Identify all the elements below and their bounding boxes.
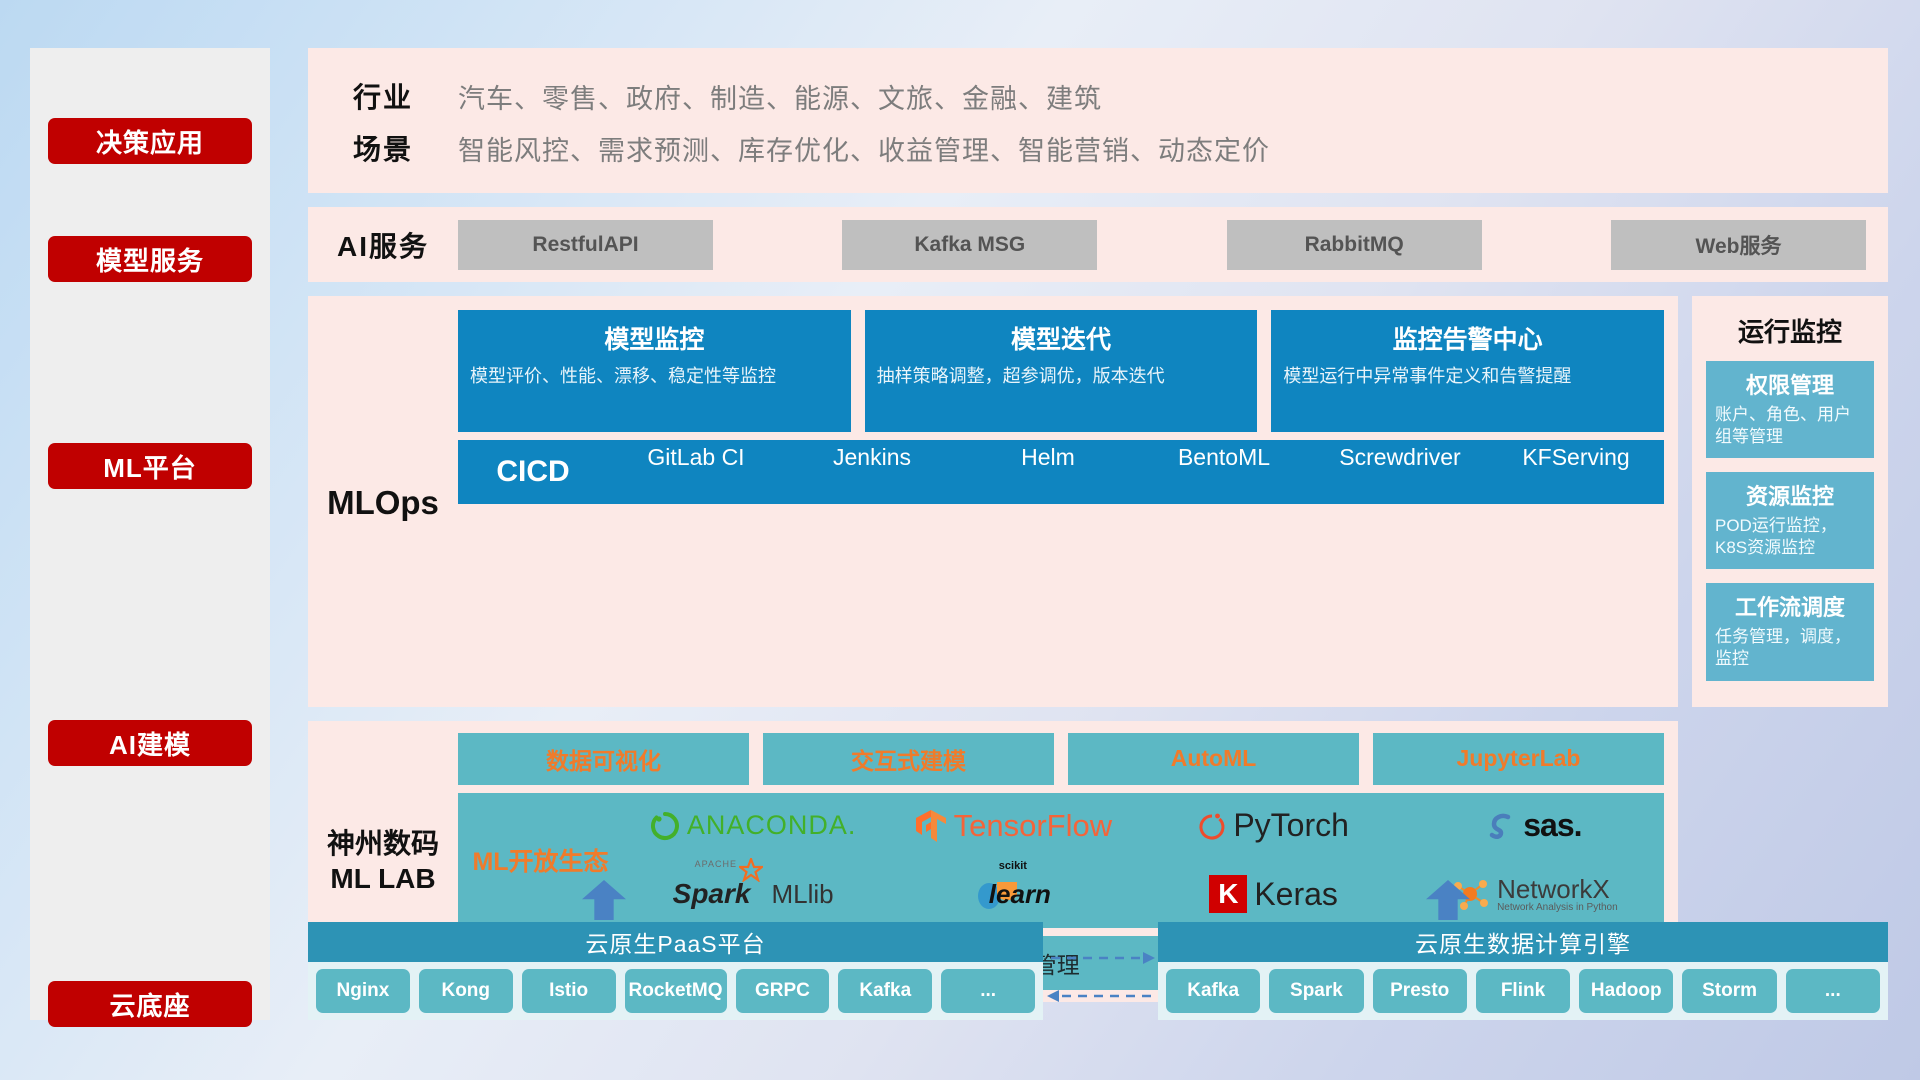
sidebar-item-label: 云底座: [109, 986, 190, 1023]
monitor-title: 运行监控: [1706, 312, 1874, 349]
main-stack: 行业 汽车、零售、政府、制造、能源、文旅、金融、建筑 场景 智能风控、需求预测、…: [308, 48, 1888, 1002]
scenario-value: 智能风控、需求预测、库存优化、收益管理、智能营销、动态定价: [458, 129, 1270, 168]
cicd-item-helm[interactable]: Helm: [960, 444, 1136, 500]
architecture-diagram: 决策应用 模型服务 ML平台 AI建模 云底座 行业 汽车、零售、政府、制造、能…: [0, 0, 1920, 1080]
service-kafka-msg[interactable]: Kafka MSG: [842, 220, 1097, 270]
cicd-item-bentoml[interactable]: BentoML: [1136, 444, 1312, 500]
chip-more-right[interactable]: ...: [1786, 969, 1880, 1013]
service-restful-api[interactable]: RestfulAPI: [458, 220, 713, 270]
card-desc: 抽样策略调整，超参调优，版本迭代: [877, 364, 1246, 388]
sidebar-item-decision-app[interactable]: 决策应用: [48, 118, 252, 164]
chip-storm[interactable]: Storm: [1682, 969, 1776, 1013]
tab-automl[interactable]: AutoML: [1068, 733, 1359, 785]
monitor-card-workflow[interactable]: 工作流调度 任务管理，调度，监控: [1706, 583, 1874, 680]
cicd-bar: CICD GitLab CI Jenkins Helm BentoML Scre…: [458, 440, 1664, 504]
ai-service-items: RestfulAPI Kafka MSG RabbitMQ Web服务: [458, 220, 1888, 270]
service-web[interactable]: Web服务: [1611, 220, 1866, 270]
logo-row-1: ANACONDA. TensorFlow: [623, 793, 1664, 860]
tab-data-visualization[interactable]: 数据可视化: [458, 733, 749, 785]
mlops-card-model-monitor[interactable]: 模型监控 模型评价、性能、漂移、稳定性等监控: [458, 310, 851, 432]
layer-rail: 决策应用 模型服务 ML平台 AI建模 云底座: [30, 48, 270, 1020]
logo-text: PyTorch: [1233, 807, 1349, 844]
card-desc: 模型评价、性能、漂移、稳定性等监控: [470, 364, 839, 388]
sidebar-item-label: 模型服务: [96, 241, 204, 278]
industry-scenario-band: 行业 汽车、零售、政府、制造、能源、文旅、金融、建筑 场景 智能风控、需求预测、…: [308, 48, 1888, 193]
modeling-label-line1: 神州数码: [327, 826, 439, 861]
anaconda-icon: [650, 811, 680, 841]
card-title: 工作流调度: [1715, 590, 1865, 622]
modeling-tabs: 数据可视化 交互式建模 AutoML JupyterLab: [458, 733, 1664, 785]
cicd-item-gitlab-ci[interactable]: GitLab CI: [608, 444, 784, 500]
chip-more-left[interactable]: ...: [941, 969, 1035, 1013]
data-engine-box: 云原生数据计算引擎 Kafka Spark Presto Flink Hadoo…: [1158, 922, 1888, 1020]
chip-flink[interactable]: Flink: [1476, 969, 1570, 1013]
sidebar-item-label: ML平台: [103, 448, 197, 485]
mlops-card-model-iteration[interactable]: 模型迭代 抽样策略调整，超参调优，版本迭代: [865, 310, 1258, 432]
card-desc: POD运行监控，K8S资源监控: [1715, 515, 1865, 559]
cicd-label: CICD: [458, 455, 608, 489]
sidebar-item-ai-modeling[interactable]: AI建模: [48, 720, 252, 766]
cicd-item-screwdriver[interactable]: Screwdriver: [1312, 444, 1488, 500]
card-desc: 模型运行中异常事件定义和告警提醒: [1283, 364, 1652, 388]
industry-label: 行业: [308, 76, 458, 116]
card-desc: 任务管理，调度，监控: [1715, 626, 1865, 670]
apache-text: APACHE: [695, 859, 737, 869]
tab-jupyterlab[interactable]: JupyterLab: [1373, 733, 1664, 785]
logo-tensorflow: TensorFlow: [883, 808, 1143, 844]
scenario-label: 场景: [308, 128, 458, 168]
logo-text: ANACONDA.: [687, 810, 857, 841]
paas-title: 云原生PaaS平台: [308, 922, 1043, 962]
chip-kafka-right[interactable]: Kafka: [1166, 969, 1260, 1013]
monitor-card-permission[interactable]: 权限管理 账户、角色、用户组等管理: [1706, 361, 1874, 458]
card-title: 模型迭代: [877, 320, 1246, 356]
spark-star-icon: [739, 858, 763, 882]
sidebar-item-label: 决策应用: [96, 123, 204, 160]
runtime-monitor-panel: 运行监控 权限管理 账户、角色、用户组等管理 资源监控 POD运行监控，K8S资…: [1692, 296, 1888, 707]
logo-text: sas.: [1523, 807, 1581, 844]
chip-spark[interactable]: Spark: [1269, 969, 1363, 1013]
chip-kafka[interactable]: Kafka: [838, 969, 932, 1013]
cloud-base-row: 云原生PaaS平台 Nginx Kong Istio RocketMQ GRPC…: [308, 880, 1888, 1030]
industry-value: 汽车、零售、政府、制造、能源、文旅、金融、建筑: [458, 77, 1102, 116]
sidebar-item-label: AI建模: [109, 725, 191, 762]
sidebar-item-model-service[interactable]: 模型服务: [48, 236, 252, 282]
chip-grpc[interactable]: GRPC: [736, 969, 830, 1013]
sidebar-item-ml-platform[interactable]: ML平台: [48, 443, 252, 489]
card-title: 监控告警中心: [1283, 320, 1652, 356]
chip-istio[interactable]: Istio: [522, 969, 616, 1013]
chip-presto[interactable]: Presto: [1373, 969, 1467, 1013]
chip-hadoop[interactable]: Hadoop: [1579, 969, 1673, 1013]
card-title: 资源监控: [1715, 479, 1865, 511]
paas-chips: Nginx Kong Istio RocketMQ GRPC Kafka ...: [308, 962, 1043, 1020]
logo-sas: sas.: [1404, 807, 1664, 844]
card-title: 模型监控: [470, 320, 839, 356]
tab-interactive-modeling[interactable]: 交互式建模: [763, 733, 1054, 785]
arrow-up-paas-icon: [582, 880, 626, 920]
mlops-card-alert-center[interactable]: 监控告警中心 模型运行中异常事件定义和告警提醒: [1271, 310, 1664, 432]
mlops-band: MLOps 模型监控 模型评价、性能、漂移、稳定性等监控 模型迭代 抽样策略调整…: [308, 296, 1678, 707]
data-engine-title: 云原生数据计算引擎: [1158, 922, 1888, 962]
pytorch-icon: [1198, 810, 1226, 842]
tensorflow-icon: [915, 809, 947, 843]
card-desc: 账户、角色、用户组等管理: [1715, 404, 1865, 448]
ml-ecosystem-label: ML开放生态: [458, 842, 623, 878]
chip-kong[interactable]: Kong: [419, 969, 513, 1013]
scikit-text: scikit: [999, 860, 1027, 872]
logo-text: TensorFlow: [954, 808, 1113, 844]
industry-row: 行业 汽车、零售、政府、制造、能源、文旅、金融、建筑: [308, 70, 1888, 122]
cicd-item-jenkins[interactable]: Jenkins: [784, 444, 960, 500]
card-title: 权限管理: [1715, 368, 1865, 400]
monitor-card-resource[interactable]: 资源监控 POD运行监控，K8S资源监控: [1706, 472, 1874, 569]
chip-rocketmq[interactable]: RocketMQ: [625, 969, 727, 1013]
sas-icon: [1486, 811, 1516, 841]
cicd-item-kfserving[interactable]: KFServing: [1488, 444, 1664, 500]
mlops-label: MLOps: [308, 310, 458, 697]
logo-anaconda: ANACONDA.: [623, 810, 883, 841]
logo-pytorch: PyTorch: [1144, 807, 1404, 844]
scenario-row: 场景 智能风控、需求预测、库存优化、收益管理、智能营销、动态定价: [308, 122, 1888, 174]
service-rabbitmq[interactable]: RabbitMQ: [1227, 220, 1482, 270]
mlops-cards: 模型监控 模型评价、性能、漂移、稳定性等监控 模型迭代 抽样策略调整，超参调优，…: [458, 310, 1664, 432]
arrow-up-data-engine-icon: [1426, 880, 1470, 920]
mlops-row: MLOps 模型监控 模型评价、性能、漂移、稳定性等监控 模型迭代 抽样策略调整…: [308, 296, 1888, 707]
chip-nginx[interactable]: Nginx: [316, 969, 410, 1013]
ai-service-band: AI服务 RestfulAPI Kafka MSG RabbitMQ Web服务: [308, 207, 1888, 282]
paas-platform-box: 云原生PaaS平台 Nginx Kong Istio RocketMQ GRPC…: [308, 922, 1043, 1020]
dashed-connectors: [1043, 940, 1158, 1010]
ai-service-label: AI服务: [308, 225, 458, 265]
data-engine-chips: Kafka Spark Presto Flink Hadoop Storm ..…: [1158, 962, 1888, 1020]
sidebar-item-cloud-base[interactable]: 云底座: [48, 981, 252, 1027]
